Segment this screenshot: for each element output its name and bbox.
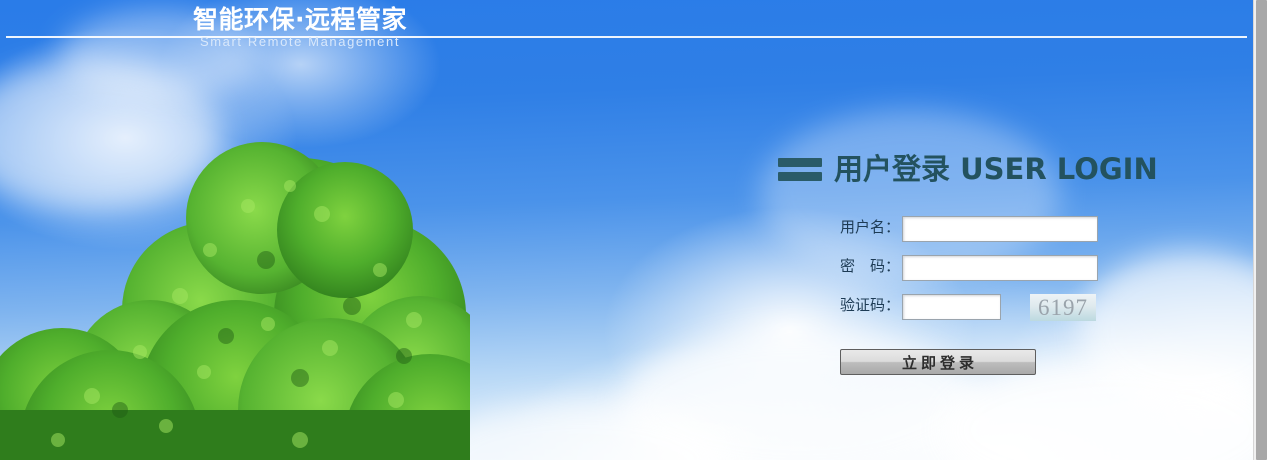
password-label: 密 码： — [840, 255, 902, 276]
login-form: 用户名： 密 码： 验证码： 6197 — [778, 216, 1178, 321]
login-button[interactable]: 立即登录 — [840, 349, 1036, 375]
scrollbar-thumb[interactable] — [1256, 0, 1267, 460]
username-label: 用户名： — [840, 216, 902, 237]
vertical-scrollbar[interactable] — [1253, 0, 1267, 460]
captcha-input[interactable] — [902, 294, 1001, 320]
brand-subtitle-en: Smart Remote Management — [186, 34, 414, 50]
login-panel: 用户登录 USER LOGIN 用户名： 密 码： 验证码： 6197 立即登录 — [778, 152, 1178, 375]
username-input[interactable] — [902, 216, 1098, 242]
submit-row: 立即登录 — [778, 334, 1178, 375]
login-heading: 用户登录 USER LOGIN — [778, 152, 1178, 186]
equals-bars-icon — [778, 158, 822, 181]
password-row: 密 码： — [840, 255, 1178, 281]
login-page: 智能环保·远程管家 Smart Remote Management 用户登录 U… — [0, 0, 1267, 460]
password-input[interactable] — [902, 255, 1098, 281]
captcha-row: 验证码： 6197 — [840, 294, 1178, 321]
brand-logo: 智能环保·远程管家 Smart Remote Management — [186, 6, 414, 50]
brand-title-cn: 智能环保·远程管家 — [186, 6, 414, 34]
captcha-label: 验证码： — [840, 294, 902, 315]
login-heading-text: 用户登录 USER LOGIN — [834, 152, 1158, 186]
username-row: 用户名： — [840, 216, 1178, 242]
captcha-image[interactable]: 6197 — [1030, 294, 1096, 321]
